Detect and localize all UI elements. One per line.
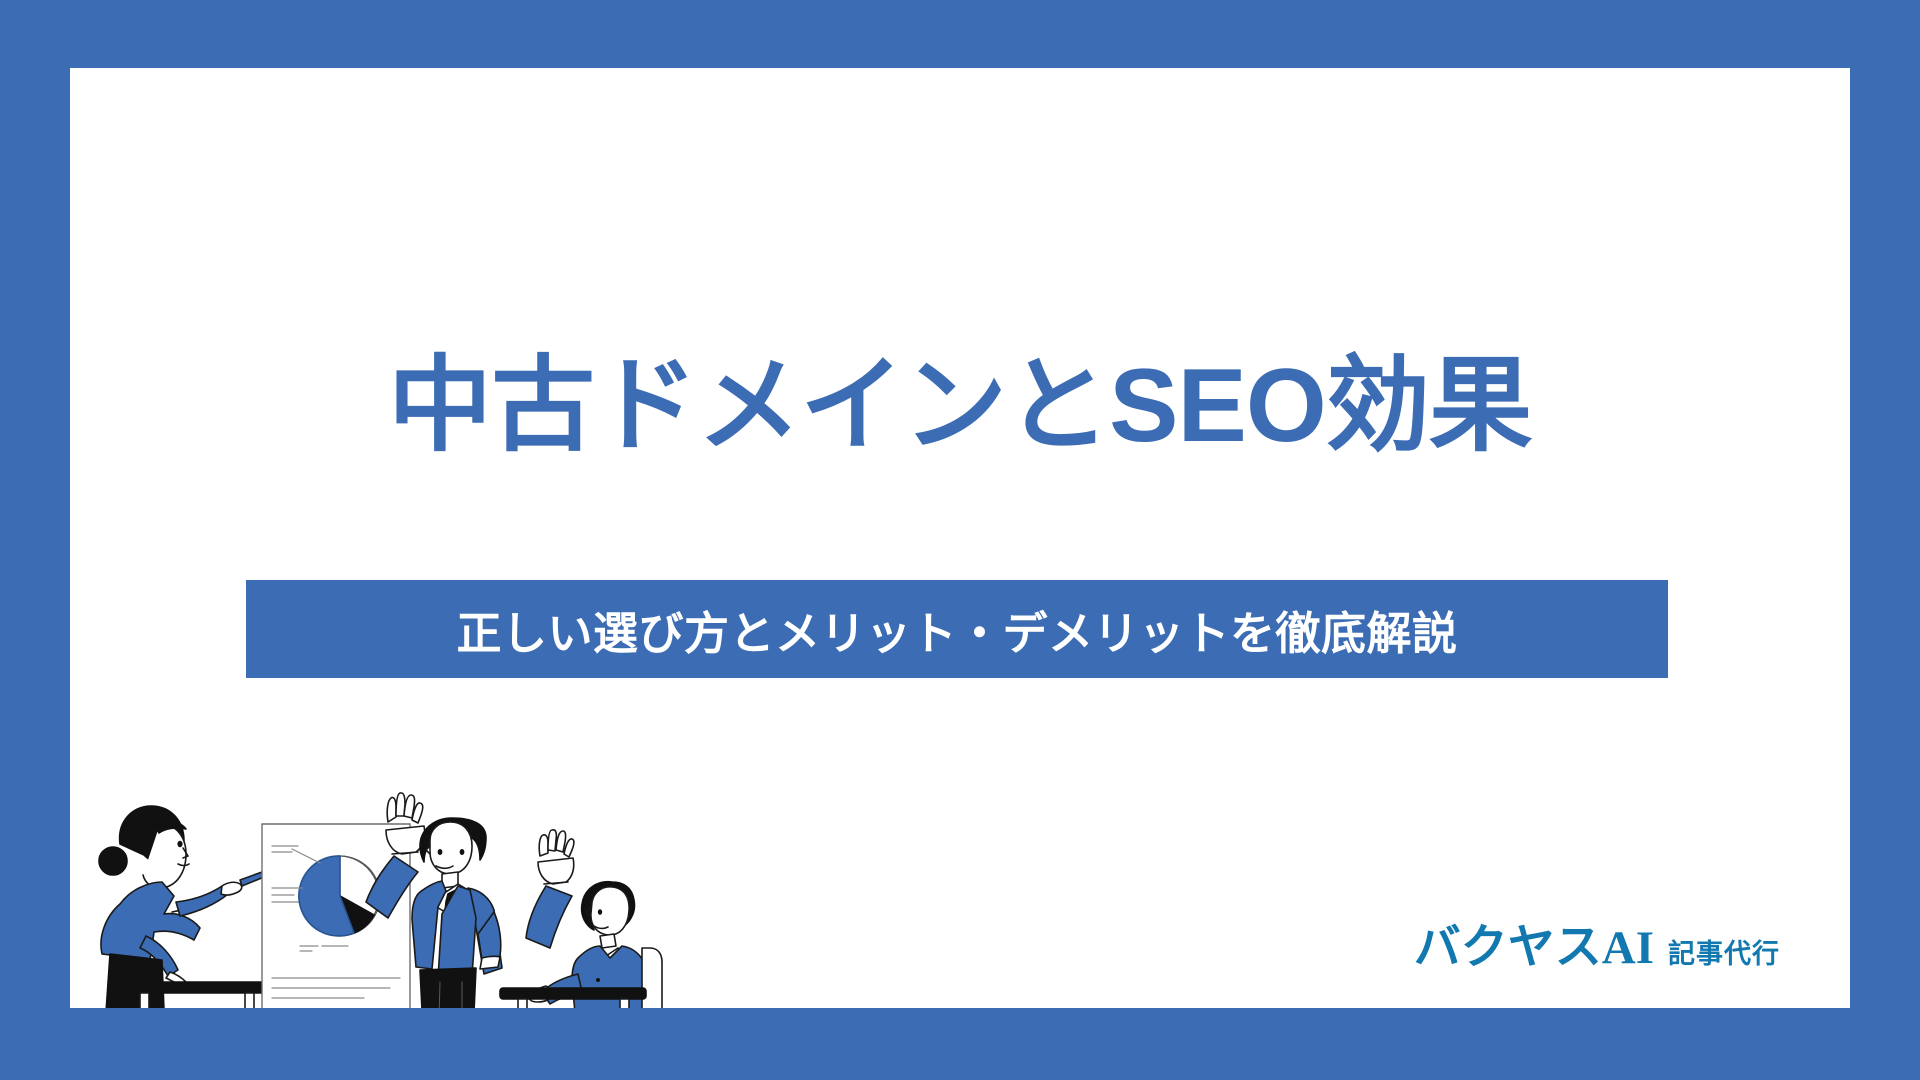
- chart-easel-with-pie-chart: [262, 824, 410, 1008]
- brand-logo: バクヤスAI 記事代行: [1414, 908, 1780, 977]
- left-table: [122, 982, 270, 1008]
- business-presentation-illustration: [70, 696, 760, 1008]
- slide-card: 中古ドメインとSEO効果 正しい選び方とメリット・デメリットを徹底解説 バクヤス…: [70, 68, 1850, 1008]
- subtitle-banner: 正しい選び方とメリット・デメリットを徹底解説: [246, 580, 1668, 678]
- slide-root: 中古ドメインとSEO効果 正しい選び方とメリット・デメリットを徹底解説 バクヤス…: [0, 0, 1920, 1080]
- seated-man-raising-hand: [526, 830, 688, 1008]
- right-table: [500, 988, 646, 1008]
- man-standing-raising-hand: [366, 793, 502, 1008]
- brand-logo-main: バクヤスAI: [1414, 908, 1654, 977]
- brand-logo-sub: 記事代行: [1668, 932, 1780, 971]
- page-title: 中古ドメインとSEO効果: [70, 348, 1850, 464]
- subtitle-text: 正しい選び方とメリット・デメリットを徹底解説: [456, 597, 1457, 662]
- woman-pointing-at-chart: [77, 806, 264, 1008]
